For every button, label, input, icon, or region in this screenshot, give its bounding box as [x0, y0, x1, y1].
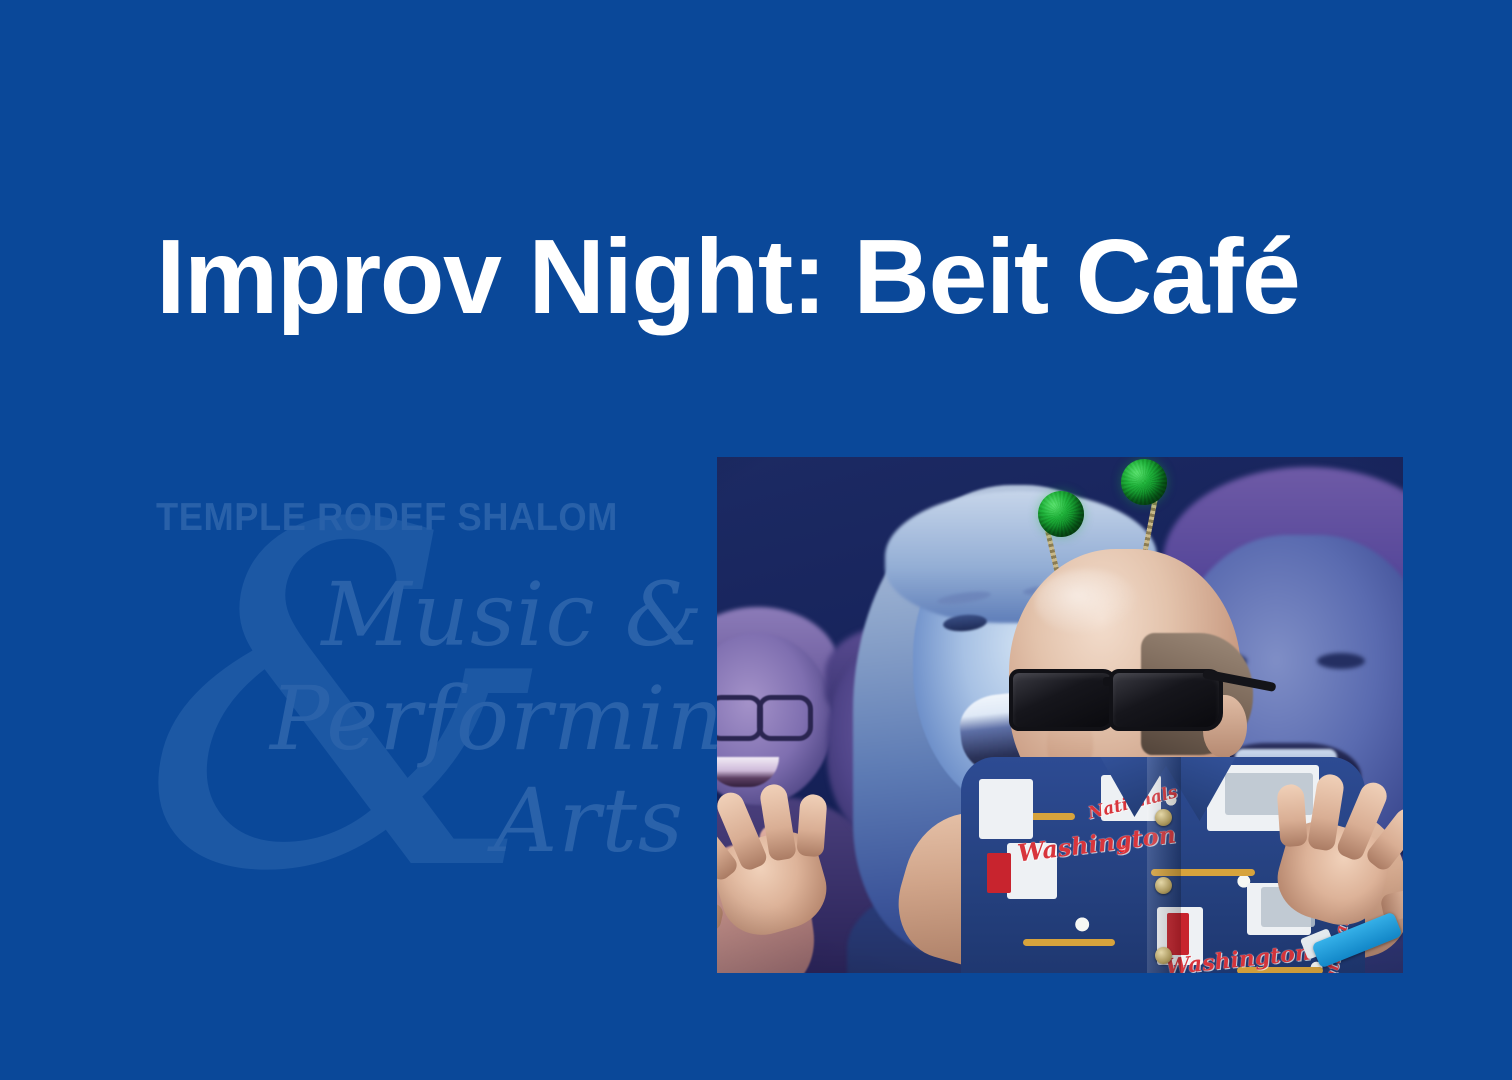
sunglasses-icon	[1005, 663, 1243, 725]
sunglasses-lens-left	[1009, 669, 1117, 731]
finger-left-4	[796, 794, 827, 858]
logo-script-lines: Music & Performing Arts	[270, 570, 710, 865]
logo-script-line-2: Performing	[270, 674, 710, 764]
presentation-slide: Improv Night: Beit Café & TEMPLE RODEF S…	[0, 0, 1512, 1080]
logo-script-line-3: Arts	[270, 776, 710, 866]
antenna-ball-right-icon	[1121, 459, 1167, 505]
performer-hand-left	[717, 765, 857, 951]
logo-organization-name: TEMPLE RODEF SHALOM	[156, 496, 618, 540]
logo-script-line-1: Music &	[270, 570, 710, 660]
performer: Washington Washington Nationals National…	[717, 457, 1403, 973]
shirt-button-1	[1155, 809, 1172, 826]
shirt-button-3	[1155, 947, 1172, 964]
page-title: Improv Night: Beit Café	[156, 218, 1299, 337]
shirt-pattern-gold-3	[1023, 939, 1115, 946]
antenna-ball-left-icon	[1038, 491, 1084, 537]
photo-frame: Washington Washington Nationals National…	[717, 457, 1403, 973]
event-photo: Washington Washington Nationals National…	[717, 457, 1403, 973]
shirt-placket	[1147, 757, 1181, 973]
finger-right-4	[1276, 784, 1307, 848]
temple-rodef-shalom-logo: & TEMPLE RODEF SHALOM Music & Performing…	[150, 470, 710, 930]
shirt-patch-white-1	[979, 779, 1033, 839]
shirt-player-red-1	[987, 853, 1011, 893]
performer-head-highlight	[1035, 569, 1139, 635]
shirt-button-2	[1155, 877, 1172, 894]
